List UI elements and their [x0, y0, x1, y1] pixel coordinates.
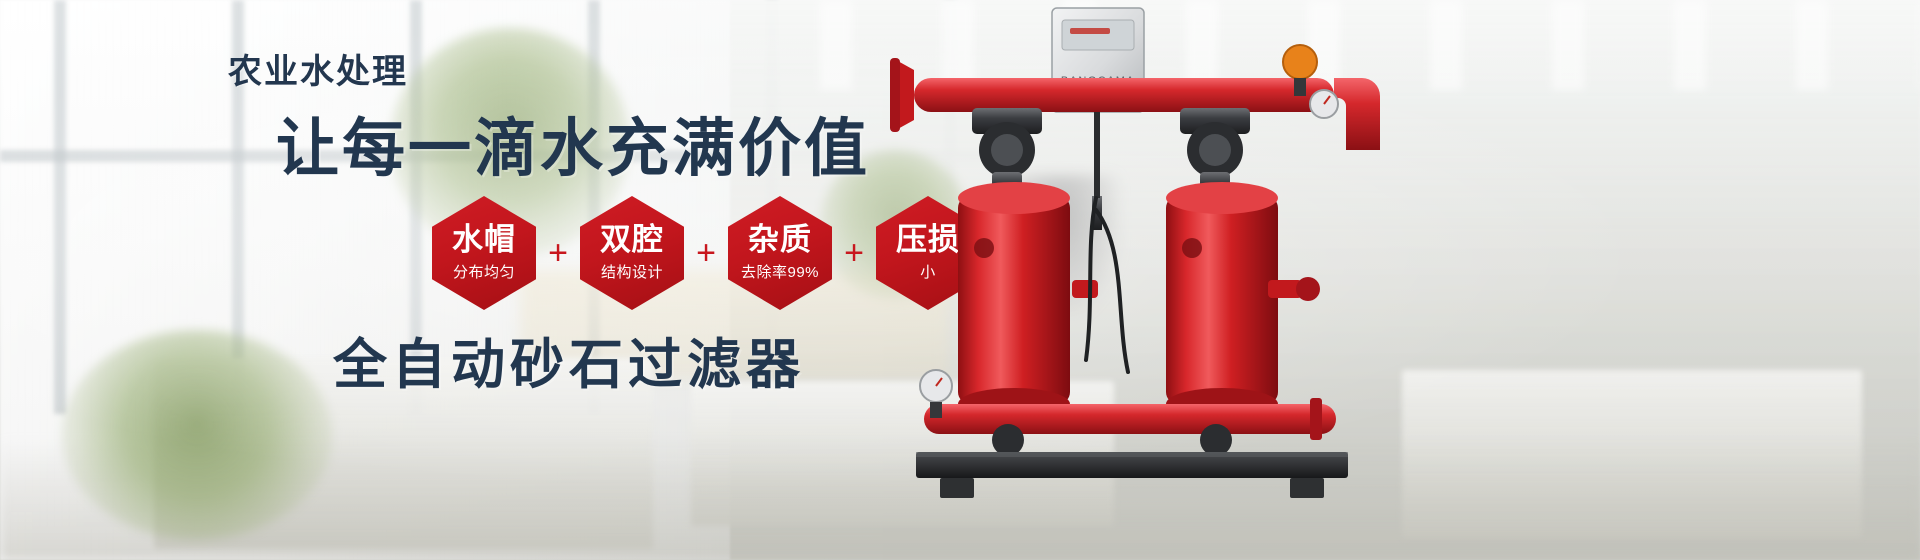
banner-subline: 全自动砂石过滤器: [333, 320, 805, 399]
bottom-manifold: [924, 398, 1336, 456]
plus-icon: +: [536, 236, 580, 270]
feature-title: 水帽: [452, 224, 516, 257]
banner-headline: 让每一滴水充满价值: [276, 98, 870, 189]
feature-badge: 水帽 分布均匀: [432, 196, 536, 310]
filter-tank-left: [958, 182, 1070, 420]
plus-icon: +: [684, 236, 728, 270]
feature-title: 双腔: [600, 224, 664, 257]
feature-subtitle: 去除率99%: [741, 261, 819, 282]
feature-badge: 杂质 去除率99%: [728, 196, 832, 310]
plus-icon: +: [832, 236, 876, 270]
feature-title: 杂质: [748, 224, 812, 257]
promo-banner: 农业水处理 让每一滴水充满价值 全自动砂石过滤器 水帽 分布均匀 + 双腔 结构…: [0, 0, 1920, 560]
filter-tank-right: [1166, 182, 1278, 420]
feature-badge: 双腔 结构设计: [580, 196, 684, 310]
feature-subtitle: 结构设计: [601, 261, 663, 282]
product-image: BANGCAMA: [880, 0, 1400, 560]
base-frame: [916, 452, 1348, 498]
banner-eyebrow: 农业水处理: [228, 44, 408, 93]
feature-subtitle: 分布均匀: [453, 261, 515, 282]
